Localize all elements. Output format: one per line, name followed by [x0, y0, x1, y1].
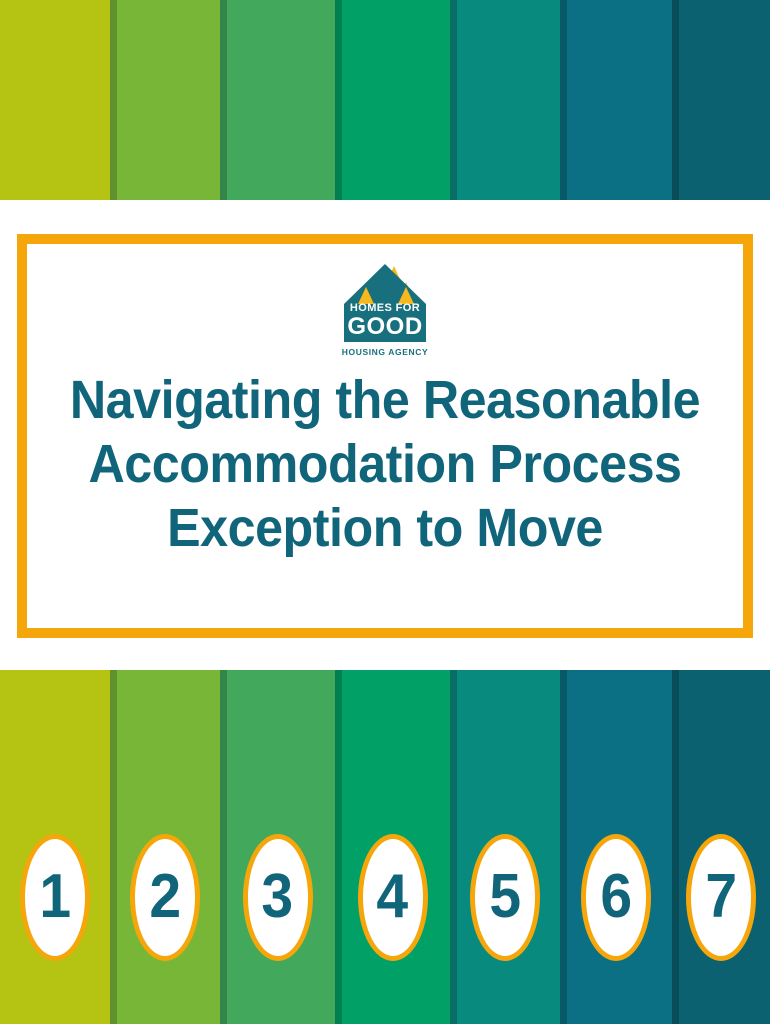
top-stripe-6: [560, 0, 672, 200]
step-badge-label-2: 2: [149, 866, 181, 928]
top-stripe-7: [672, 0, 770, 200]
top-stripe-3: [220, 0, 335, 200]
step-badge-7[interactable]: 7: [686, 834, 756, 961]
homes-for-good-logo-icon: HOMES FOR GOOD HOUSING AGENCY: [338, 260, 432, 364]
title-line-2: Accommodation Process: [52, 432, 718, 496]
top-stripe-5: [450, 0, 560, 200]
title-line-1: Navigating the Reasonable: [52, 368, 718, 432]
step-badge-5[interactable]: 5: [470, 834, 540, 961]
svg-text:HOUSING AGENCY: HOUSING AGENCY: [342, 347, 428, 357]
svg-text:GOOD: GOOD: [347, 313, 422, 340]
presentation-slide: HOMES FOR GOOD HOUSING AGENCY Navigating…: [0, 0, 770, 1024]
top-stripe-1: [0, 0, 110, 200]
badge-cell-1: 1: [0, 833, 110, 961]
step-badge-3[interactable]: 3: [243, 834, 313, 961]
step-badge-1[interactable]: 1: [20, 834, 90, 961]
badge-cell-5: 5: [450, 833, 560, 961]
top-stripe-2: [110, 0, 220, 200]
top-stripe-4: [335, 0, 450, 200]
step-badge-2[interactable]: 2: [130, 834, 200, 961]
badge-cell-2: 2: [110, 833, 220, 961]
step-badge-label-3: 3: [262, 866, 294, 928]
step-badge-label-6: 6: [600, 866, 632, 928]
step-badge-6[interactable]: 6: [581, 834, 651, 961]
badge-cell-3: 3: [220, 833, 335, 961]
top-stripe-band: [0, 0, 770, 200]
step-badge-label-4: 4: [377, 866, 409, 928]
badge-cell-6: 6: [560, 833, 672, 961]
step-badge-label-7: 7: [705, 866, 737, 928]
title-card: HOMES FOR GOOD HOUSING AGENCY Navigating…: [17, 234, 753, 638]
step-badge-4[interactable]: 4: [358, 834, 428, 961]
badge-cell-7: 7: [672, 833, 770, 961]
badge-cell-4: 4: [335, 833, 450, 961]
step-badge-label-1: 1: [39, 866, 71, 928]
step-number-badges: 1 2 3 4 5 6: [0, 833, 770, 961]
slide-title: Navigating the Reasonable Accommodation …: [27, 368, 743, 560]
step-badge-label-5: 5: [489, 866, 521, 928]
title-line-3: Exception to Move: [52, 496, 718, 560]
